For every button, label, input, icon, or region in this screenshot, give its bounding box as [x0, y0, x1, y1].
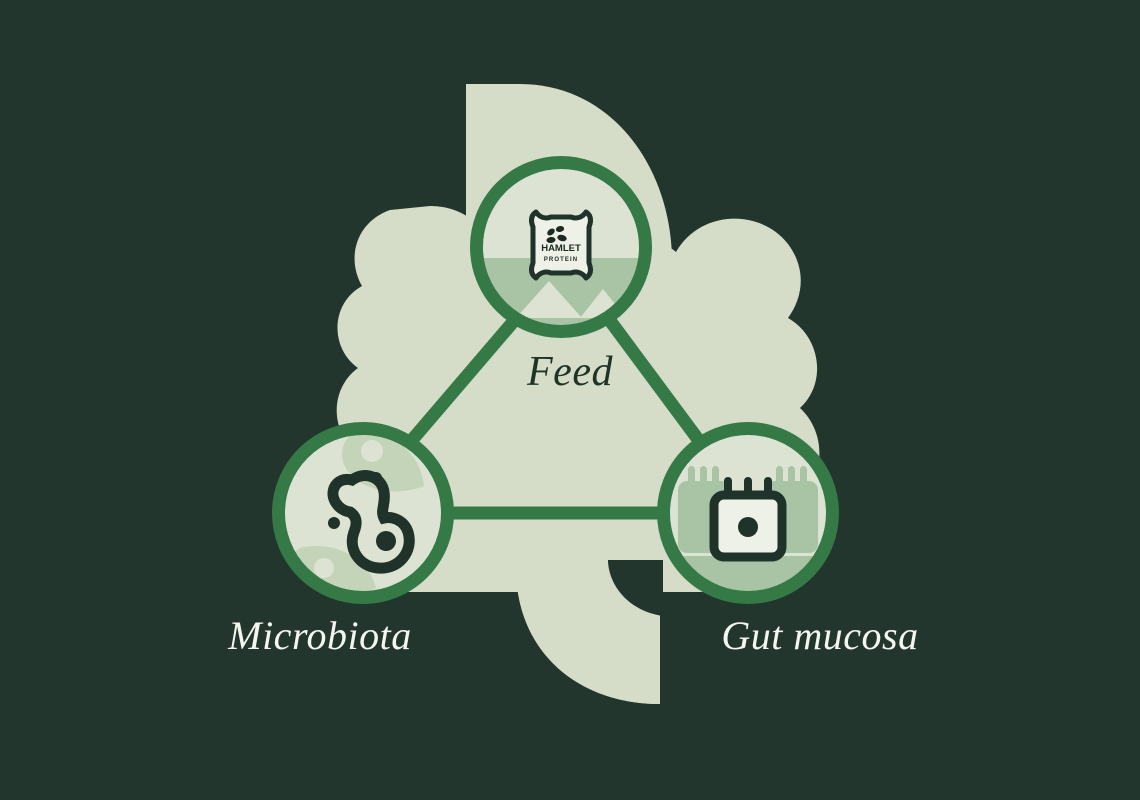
node-label-feed: Feed	[0, 348, 1140, 396]
enterocyte-nucleus-dot	[738, 517, 758, 537]
enterocyte-cell-with-microvilli	[714, 477, 782, 557]
diagram-canvas: HAMLET PROTEIN	[0, 0, 1140, 800]
node-label-gut-mucosa: Gut mucosa	[620, 612, 1020, 659]
node-gut-mucosa[interactable]	[0, 0, 1140, 800]
node-label-microbiota: Microbiota	[120, 612, 520, 659]
